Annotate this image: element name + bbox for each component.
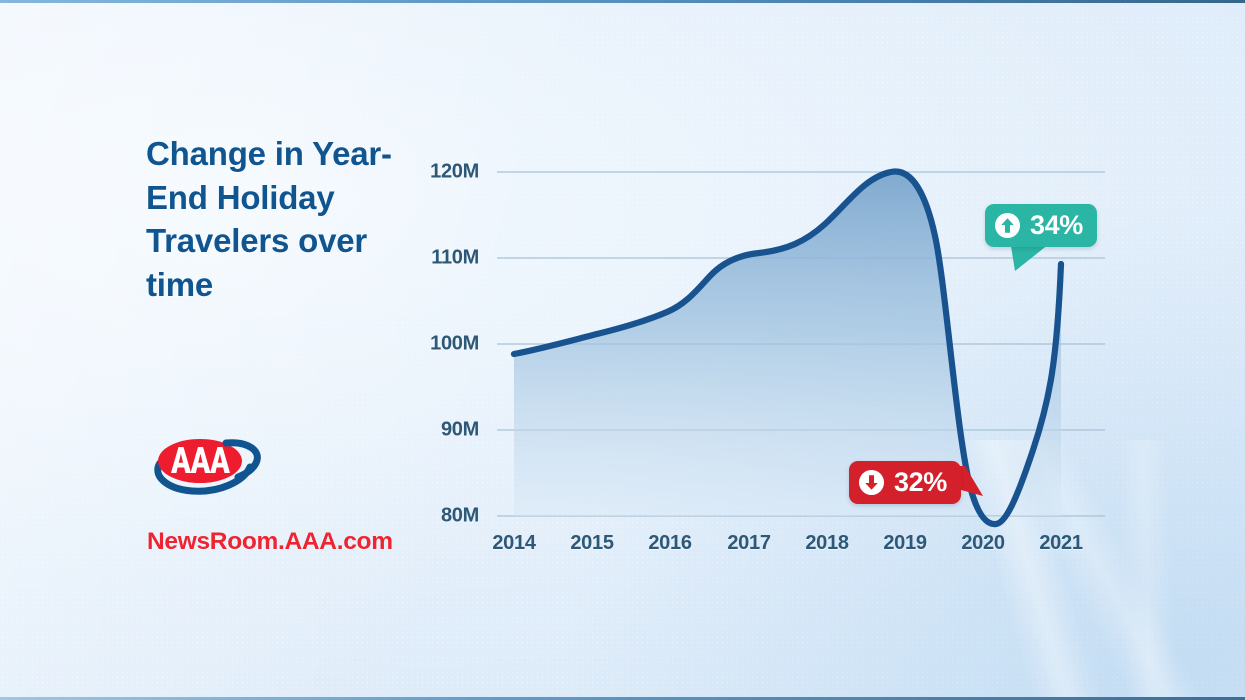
decrease-callout-badge[interactable]: 32% bbox=[849, 461, 961, 504]
chart-canvas: Change in Year-End Holiday Travelers ove… bbox=[0, 0, 1245, 700]
increase-callout-value: 34% bbox=[1030, 210, 1083, 241]
x-tick-label-2018: 2018 bbox=[787, 532, 867, 555]
top-edge-bar bbox=[0, 0, 1245, 3]
x-tick-label-2016: 2016 bbox=[630, 532, 710, 555]
arrow-up-circle-icon bbox=[994, 212, 1021, 239]
arrow-down-circle-icon bbox=[858, 469, 885, 496]
x-tick-label-2021: 2021 bbox=[1021, 532, 1101, 555]
x-tick-label-2017: 2017 bbox=[709, 532, 789, 555]
title-block: Change in Year-End Holiday Travelers ove… bbox=[146, 132, 396, 306]
aaa-logo bbox=[148, 433, 266, 497]
decrease-callout-value: 32% bbox=[894, 467, 947, 498]
x-tick-label-2020: 2020 bbox=[943, 532, 1023, 555]
x-tick-label-2014: 2014 bbox=[474, 532, 554, 555]
x-tick-label-2019: 2019 bbox=[865, 532, 945, 555]
x-tick-label-2015: 2015 bbox=[552, 532, 632, 555]
aaa-logo-icon bbox=[148, 433, 266, 497]
newsroom-url[interactable]: NewsRoom.AAA.com bbox=[147, 528, 393, 556]
increase-callout-badge[interactable]: 34% bbox=[985, 204, 1097, 247]
page-title: Change in Year-End Holiday Travelers ove… bbox=[146, 132, 396, 306]
